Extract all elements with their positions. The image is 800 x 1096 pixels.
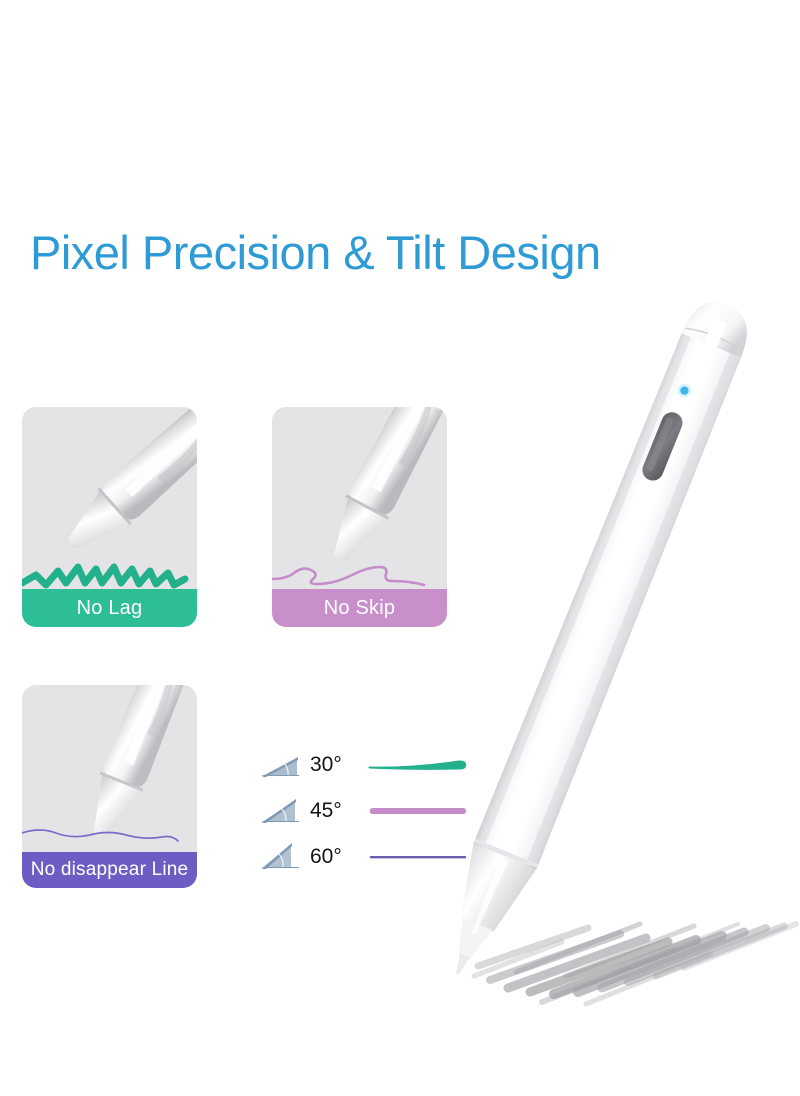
tilt-row-60: 60°: [258, 834, 468, 880]
angle-45-label: 45°: [310, 799, 366, 823]
feature-card-no-lag: No Lag: [22, 407, 197, 627]
pencil-shading-strokes: [470, 880, 800, 1020]
angle-30-label: 30°: [310, 753, 366, 777]
angle-45-icon: [258, 795, 304, 827]
feature-card-label-no-skip: No Skip: [272, 589, 447, 627]
angle-60-icon: [258, 841, 304, 873]
feature-card-label-no-lag: No Lag: [22, 589, 197, 627]
tilt-stroke-60: [366, 847, 468, 867]
tilt-stroke-45: [366, 801, 468, 821]
tilt-stroke-30: [366, 755, 468, 775]
led-indicator: [679, 385, 690, 396]
angle-60-label: 60°: [310, 845, 366, 869]
tilt-row-45: 45°: [258, 788, 468, 834]
feature-card-no-skip: No Skip: [272, 407, 447, 627]
tilt-row-30: 30°: [258, 742, 468, 788]
tilt-angle-legend: 30° 45°: [258, 742, 468, 880]
stylus-product-illustration: [380, 255, 800, 1015]
angle-30-icon: [258, 749, 304, 781]
page-title: Pixel Precision & Tilt Design: [30, 228, 601, 277]
product-feature-image: Pixel Precision & Tilt Design: [0, 0, 800, 1096]
feature-card-label-no-disappear-line: No disappear Line: [22, 852, 197, 888]
feature-card-no-disappear-line: No disappear Line: [22, 685, 197, 888]
